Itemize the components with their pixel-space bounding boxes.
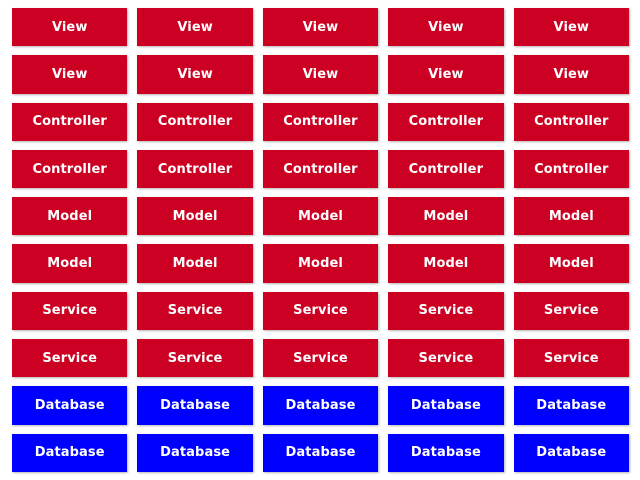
node-view[interactable]: View [263,55,378,93]
node-label: Database [35,399,105,412]
node-database[interactable]: Database [514,386,629,424]
node-label: View [428,68,464,81]
node-label: Database [35,446,105,459]
node-label: Model [549,210,594,223]
node-view[interactable]: View [388,8,503,46]
node-label: Controller [283,115,357,128]
node-label: Controller [32,163,106,176]
node-label: Model [173,257,218,270]
node-label: Database [536,399,606,412]
node-view[interactable]: View [12,55,127,93]
node-controller[interactable]: Controller [263,103,378,141]
node-model[interactable]: Model [514,244,629,282]
node-label: Database [160,399,230,412]
architecture-node-grid: ViewViewViewViewViewViewViewViewViewView… [0,0,640,480]
node-controller[interactable]: Controller [137,150,252,188]
node-service[interactable]: Service [12,292,127,330]
node-model[interactable]: Model [388,244,503,282]
node-database[interactable]: Database [137,386,252,424]
node-model[interactable]: Model [137,197,252,235]
node-model[interactable]: Model [263,197,378,235]
node-label: Model [173,210,218,223]
node-database[interactable]: Database [388,386,503,424]
node-service[interactable]: Service [514,292,629,330]
node-database[interactable]: Database [514,434,629,472]
node-controller[interactable]: Controller [137,103,252,141]
node-label: Database [411,446,481,459]
node-service[interactable]: Service [388,292,503,330]
node-label: Service [419,304,474,317]
node-controller[interactable]: Controller [12,103,127,141]
node-label: View [303,21,339,34]
node-service[interactable]: Service [137,339,252,377]
node-label: Database [286,446,356,459]
node-label: View [428,21,464,34]
node-controller[interactable]: Controller [12,150,127,188]
node-label: Model [47,210,92,223]
node-label: Model [47,257,92,270]
node-service[interactable]: Service [263,339,378,377]
node-label: Database [286,399,356,412]
node-controller[interactable]: Controller [514,150,629,188]
node-label: Service [293,352,348,365]
node-label: Service [544,304,599,317]
node-model[interactable]: Model [388,197,503,235]
node-label: Model [423,210,468,223]
node-service[interactable]: Service [12,339,127,377]
node-database[interactable]: Database [12,386,127,424]
node-controller[interactable]: Controller [388,103,503,141]
node-label: Controller [534,115,608,128]
node-controller[interactable]: Controller [263,150,378,188]
node-model[interactable]: Model [12,197,127,235]
node-view[interactable]: View [137,8,252,46]
node-view[interactable]: View [12,8,127,46]
node-database[interactable]: Database [12,434,127,472]
node-label: Controller [409,163,483,176]
node-view[interactable]: View [137,55,252,93]
node-label: Controller [409,115,483,128]
node-service[interactable]: Service [388,339,503,377]
node-database[interactable]: Database [388,434,503,472]
node-label: Controller [283,163,357,176]
node-model[interactable]: Model [263,244,378,282]
node-label: View [303,68,339,81]
node-label: Model [423,257,468,270]
node-label: View [52,68,88,81]
node-label: View [554,21,590,34]
node-label: View [554,68,590,81]
node-controller[interactable]: Controller [514,103,629,141]
node-view[interactable]: View [514,55,629,93]
node-label: View [52,21,88,34]
node-service[interactable]: Service [514,339,629,377]
node-label: Database [411,399,481,412]
node-label: Database [536,446,606,459]
node-view[interactable]: View [388,55,503,93]
node-database[interactable]: Database [137,434,252,472]
node-label: Service [168,352,223,365]
node-model[interactable]: Model [514,197,629,235]
node-model[interactable]: Model [12,244,127,282]
node-label: Model [298,210,343,223]
node-database[interactable]: Database [263,434,378,472]
node-label: Service [293,304,348,317]
node-service[interactable]: Service [263,292,378,330]
node-label: Model [298,257,343,270]
node-service[interactable]: Service [137,292,252,330]
node-view[interactable]: View [514,8,629,46]
node-model[interactable]: Model [137,244,252,282]
node-label: Database [160,446,230,459]
node-view[interactable]: View [263,8,378,46]
node-label: View [177,21,213,34]
node-database[interactable]: Database [263,386,378,424]
node-label: Controller [534,163,608,176]
node-label: Controller [158,115,232,128]
node-label: Service [168,304,223,317]
node-label: Service [42,352,97,365]
node-label: Model [549,257,594,270]
node-label: Service [544,352,599,365]
node-label: View [177,68,213,81]
node-label: Controller [32,115,106,128]
node-label: Service [419,352,474,365]
node-controller[interactable]: Controller [388,150,503,188]
node-label: Controller [158,163,232,176]
node-label: Service [42,304,97,317]
